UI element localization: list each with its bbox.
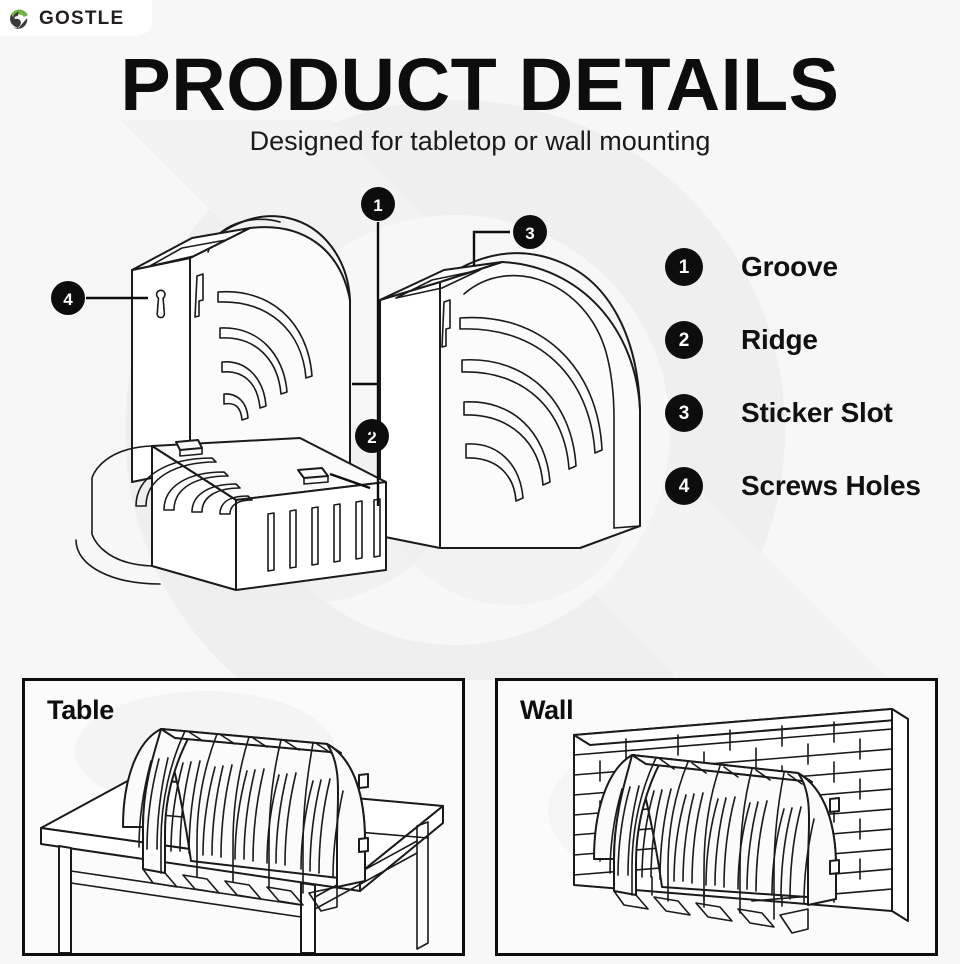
page-title: PRODUCT DETAILS (0, 48, 960, 122)
callout-1: 1 (361, 187, 395, 221)
unit-right (380, 253, 640, 548)
product-details-infographic: GOSTLE PRODUCT DETAILS Designed for tabl… (0, 0, 960, 964)
ridge-tab-table-bottom (359, 838, 368, 852)
legend-item-sticker-slot: 3 Sticker Slot (665, 394, 955, 432)
callout-3: 3 (513, 215, 547, 249)
legend-label-2: Ridge (741, 324, 818, 356)
legend-label-1: Groove (741, 251, 838, 283)
mounting-panels: Table (22, 678, 938, 956)
unit-front-lying (76, 438, 386, 590)
ridge-tab-table-top (359, 774, 368, 788)
legend-label-3: Sticker Slot (741, 397, 893, 429)
svg-text:4: 4 (63, 290, 73, 309)
panel-table: Table (22, 678, 465, 956)
svg-text:3: 3 (525, 224, 534, 243)
legend-item-screws-holes: 4 Screws Holes (665, 467, 955, 505)
panel-wall: Wall (495, 678, 938, 956)
legend-label-4: Screws Holes (741, 470, 921, 502)
legend-badge-1: 1 (665, 248, 703, 286)
ridge-tab-wall-top (830, 798, 839, 812)
product-diagram: 1 2 3 4 (40, 170, 680, 670)
panel-wall-label: Wall (520, 695, 573, 726)
legend-badge-4: 4 (665, 467, 703, 505)
brand-name: GOSTLE (39, 9, 124, 28)
legend-badge-2: 2 (665, 321, 703, 359)
callout-4: 4 (51, 281, 85, 315)
organizer-row-wall (594, 755, 839, 933)
brand-logo-bar: GOSTLE (0, 0, 152, 36)
page-subtitle: Designed for tabletop or wall mounting (0, 126, 960, 156)
legend-item-ridge: 2 Ridge (665, 321, 955, 359)
panel-table-label: Table (47, 695, 114, 726)
svg-text:1: 1 (373, 196, 382, 215)
legend-list: 1 Groove 2 Ridge 3 Sticker Slot 4 Screws… (665, 248, 955, 540)
gostle-swoosh-logo-icon (4, 3, 34, 33)
legend-badge-3: 3 (665, 394, 703, 432)
ridge-tab-wall-bottom (830, 860, 839, 874)
legend-item-groove: 1 Groove (665, 248, 955, 286)
